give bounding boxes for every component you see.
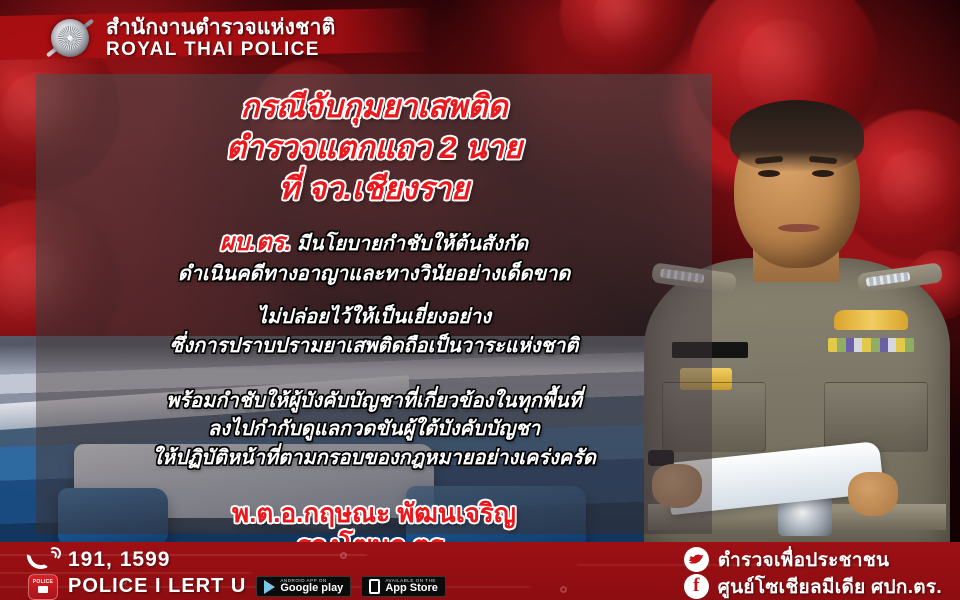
paragraph-3-line-2: ลงไปกำกับดูแลกวดขันผู้ใต้บังคับบัญชา: [36, 415, 712, 444]
paragraph-1-line-1: ผบ.ตร. มีนโยบายกำชับให้ต้นสังกัด: [36, 226, 712, 261]
apple-app-store-icon: [369, 579, 380, 594]
header-content: สำนักงานตำรวจแห่งชาติ ROYAL THAI POLICE: [0, 10, 430, 66]
emergency-phone-numbers: 191, 1599: [68, 548, 170, 572]
officer-mouth: [778, 224, 820, 232]
google-play-icon: [264, 580, 275, 594]
footer-twitter-row[interactable]: ตำรวจเพื่อประชาชน: [684, 546, 942, 573]
officer-wing-badge: [834, 310, 908, 330]
officer-hair: [730, 100, 864, 172]
headline: กรณีจับกุมยาเสพติด ตำรวจแตกแถว 2 นาย ที่…: [36, 86, 712, 210]
footer-dot: [560, 586, 567, 593]
headline-line-2: ตำรวจแตกแถว 2 นาย: [36, 127, 712, 168]
headline-line-3: ที่ จว.เชียงราย: [36, 168, 712, 209]
commissioner-highlight: ผบ.ตร.: [220, 229, 291, 256]
app-store-badge[interactable]: Available on the App Store: [361, 576, 446, 597]
officer-pocket: [824, 382, 928, 452]
footer-app-row: POLICE POLICE I LERT U ANDROID APP ON Go…: [28, 573, 446, 600]
paragraph-2-line-1: ไม่ปล่อยไว้ให้เป็นเยี่ยงอย่าง: [36, 303, 712, 332]
officer-eye: [758, 170, 780, 177]
paragraph-2: ไม่ปล่อยไว้ให้เป็นเยี่ยงอย่าง ซึ่งการปรา…: [36, 303, 712, 361]
paragraph-2-line-2: ซึ่งการปราบปรามยาเสพติดถือเป็นวาระแห่งชา…: [36, 332, 712, 361]
poster-content: กรณีจับกุมยาเสพติด ตำรวจแตกแถว 2 นาย ที่…: [36, 74, 712, 561]
paragraph-3: พร้อมกำชับให้ผู้บังคับบัญชาที่เกี่ยวข้อง…: [36, 387, 712, 473]
footer-bar: 191, 1599 POLICE POLICE I LERT U ANDROID…: [0, 542, 960, 600]
royal-thai-police-emblem-icon: [44, 12, 96, 64]
footer-right: ตำรวจเพื่อประชาชน f ศูนย์โซเชียลมีเดีย ศ…: [684, 546, 942, 600]
paragraph-3-line-3: ให้ปฏิบัติหน้าที่ตามกรอบของกฎหมายอย่างเค…: [36, 444, 712, 473]
officer-epaulette: [857, 262, 943, 293]
google-play-title: Google play: [280, 583, 343, 595]
officer-eye: [812, 170, 834, 177]
google-play-badge[interactable]: ANDROID APP ON Google play: [256, 576, 351, 597]
paragraph-3-line-1: พร้อมกำชับให้ผู้บังคับบัญชาที่เกี่ยวข้อง…: [36, 387, 712, 416]
app-name-label: POLICE I LERT U: [68, 575, 246, 598]
footer-left: 191, 1599 POLICE POLICE I LERT U ANDROID…: [28, 546, 446, 600]
headline-line-1: กรณีจับกุมยาเสพติด: [36, 86, 712, 127]
officer-ribbon-bar: [828, 338, 914, 352]
police-announcement-poster: สำนักงานตำรวจแห่งชาติ ROYAL THAI POLICE …: [0, 0, 960, 600]
header-title-thai: สำนักงานตำรวจแห่งชาติ: [106, 17, 335, 38]
twitter-bird-icon[interactable]: [684, 547, 709, 572]
footer-facebook-row[interactable]: f ศูนย์โซเชียลมีเดีย ศปก.ตร.: [684, 573, 942, 600]
app-store-title: App Store: [385, 583, 438, 595]
footer-phone-row: 191, 1599: [28, 546, 446, 573]
twitter-handle-label: ตำรวจเพื่อประชาชน: [718, 545, 890, 575]
phone-ringing-icon: [28, 548, 58, 572]
paragraph-1: ผบ.ตร. มีนโยบายกำชับให้ต้นสังกัด ดำเนินค…: [36, 226, 712, 289]
spokesperson-name: พ.ต.อ.กฤษณะ พัฒนเจริญ: [36, 497, 712, 529]
facebook-page-label: ศูนย์โซเชียลมีเดีย ศปก.ตร.: [718, 572, 942, 600]
paragraph-1-line-1-rest: มีนโยบายกำชับให้ต้นสังกัด: [291, 233, 528, 255]
facebook-icon[interactable]: f: [684, 574, 709, 599]
officer-hand: [848, 472, 898, 516]
police-i-lert-u-app-icon[interactable]: POLICE: [28, 574, 58, 600]
header-title-english: ROYAL THAI POLICE: [106, 40, 335, 59]
paragraph-1-line-2: ดำเนินคดีทางอาญาและทางวินัยอย่างเด็ดขาด: [36, 260, 712, 289]
